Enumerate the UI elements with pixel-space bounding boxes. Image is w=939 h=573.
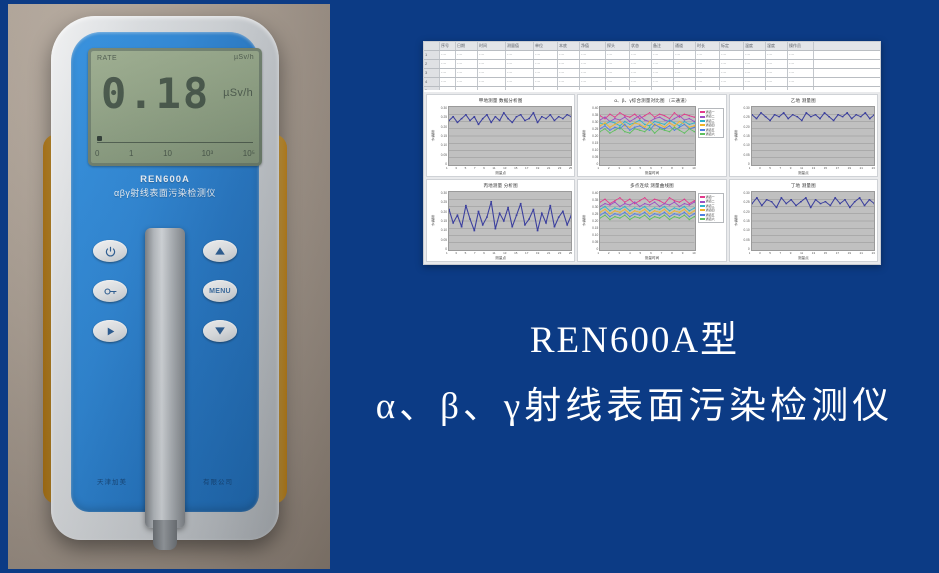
data-spreadsheet: 序号日期时间测量值单位本底净值探头状态备注通道时长标定温度湿度操作员1·····… xyxy=(424,42,880,90)
y-tick: 0.25 xyxy=(586,212,598,216)
table-cell: ···· xyxy=(478,78,506,86)
table-cell: ···· xyxy=(788,69,814,77)
column-header: 日期 xyxy=(456,42,478,50)
table-cell: ···· xyxy=(696,78,720,86)
table-cell: ···· xyxy=(580,60,606,68)
y-tick: 0.25 xyxy=(435,115,447,119)
table-cell: ···· xyxy=(478,87,506,90)
y-axis-label: 计数率 xyxy=(429,191,435,251)
y-axis-label: 计数率 xyxy=(429,106,435,166)
plot-area: 计数率0.300.250.200.150.100.050 xyxy=(429,106,572,166)
table-cell: ···· xyxy=(744,87,766,90)
table-cell: ···· xyxy=(674,60,696,68)
table-cell: ···· xyxy=(744,69,766,77)
legend-swatch xyxy=(700,129,705,131)
table-cell: ···· xyxy=(534,87,558,90)
table-cell: ···· xyxy=(720,87,744,90)
device-footer-text: 天津加美 有限公司 xyxy=(71,476,259,486)
column-header: 单位 xyxy=(534,42,558,50)
legend-swatch xyxy=(700,120,705,122)
device-footer-right: 有限公司 xyxy=(203,476,233,486)
lcd-unit: µSv/h xyxy=(223,87,253,99)
y-tick: 0.40 xyxy=(586,191,598,195)
chart-title: α、β、γ综合测量对比图 （三通道） xyxy=(578,98,725,104)
table-cell: ···· xyxy=(456,78,478,86)
row-index-cell xyxy=(424,42,440,50)
table-cell: ···· xyxy=(766,60,788,68)
menu-button[interactable]: MENU xyxy=(203,280,237,302)
table-cell: ···· xyxy=(720,60,744,68)
y-axis-label: 计数率 xyxy=(732,191,738,251)
lcd-scale-tick: 1 xyxy=(129,149,133,161)
y-tick: 0.30 xyxy=(435,191,447,195)
y-axis-ticks: 0.300.250.200.150.100.050 xyxy=(738,106,751,166)
y-tick: 0.30 xyxy=(586,205,598,209)
down-button[interactable] xyxy=(203,320,237,342)
table-cell: ···· xyxy=(440,87,456,90)
table-cell: ···· xyxy=(652,87,674,90)
y-tick: 0.25 xyxy=(435,200,447,204)
plot-canvas xyxy=(448,106,572,166)
play-button[interactable] xyxy=(93,320,127,342)
table-cell: ···· xyxy=(478,69,506,77)
triangle-up-icon xyxy=(214,246,226,256)
table-cell: ···· xyxy=(674,51,696,59)
device-branding: REN600A αβγ射线表面污染检测仪 xyxy=(71,174,259,199)
chart-title: 丁地 测量图 xyxy=(730,183,877,189)
chart-title: 乙地 测量图 xyxy=(730,98,877,104)
table-cell: ···· xyxy=(766,51,788,59)
table-cell: ···· xyxy=(696,87,720,90)
table-cell: ···· xyxy=(478,60,506,68)
lcd-bargraph xyxy=(97,135,253,143)
y-tick: 0.20 xyxy=(738,125,750,129)
table-cell: ···· xyxy=(506,51,534,59)
y-axis-ticks: 0.300.250.200.150.100.050 xyxy=(435,106,448,166)
triangle-down-icon xyxy=(214,326,226,336)
table-cell: ···· xyxy=(630,78,652,86)
legend-swatch xyxy=(700,124,705,126)
plot-area: 计数率0.300.250.200.150.100.050 xyxy=(429,191,572,251)
product-title-line1: REN600A型 xyxy=(330,318,939,364)
y-axis-ticks: 0.400.350.300.250.200.150.100.050 xyxy=(586,106,599,166)
table-cell: ···· xyxy=(440,51,456,59)
chart-title: 多点连续 测量曲线图 xyxy=(578,183,725,189)
y-tick: 0.10 xyxy=(435,143,447,147)
up-button[interactable] xyxy=(203,240,237,262)
table-cell: ···· xyxy=(766,69,788,77)
chart-panel[interactable]: α、β、γ综合测量对比图 （三通道）计数率0.400.350.300.250.2… xyxy=(577,94,726,177)
lcd-bezel: RATE µSv/h 0.18 µSv/h 011010³10⁵ xyxy=(88,48,262,166)
y-tick: 0.20 xyxy=(435,125,447,129)
power-icon xyxy=(105,246,116,257)
table-row[interactable]: 4·······································… xyxy=(424,78,880,87)
lcd-scale-tick: 10 xyxy=(163,149,172,161)
slide-root: RATE µSv/h 0.18 µSv/h 011010³10⁵ REN600A… xyxy=(0,0,939,573)
table-cell: ···· xyxy=(456,51,478,59)
table-cell: ···· xyxy=(478,51,506,59)
table-cell: ···· xyxy=(606,78,630,86)
table-cell: ···· xyxy=(506,60,534,68)
table-cell: ···· xyxy=(606,60,630,68)
table-cell: ···· xyxy=(580,87,606,90)
y-tick: 0.30 xyxy=(738,106,750,110)
lcd-status-right: µSv/h xyxy=(234,54,254,61)
table-cell: ···· xyxy=(580,78,606,86)
table-cell: ···· xyxy=(720,69,744,77)
y-tick: 0.35 xyxy=(586,198,598,202)
title-block: REN600A型 α、β、γ射线表面污染检测仪 xyxy=(330,318,939,434)
key-icon xyxy=(104,286,117,297)
y-tick: 0.25 xyxy=(738,200,750,204)
chart-legend: 通道一通道二通道三通道四通道五通道六 xyxy=(698,193,724,223)
spreadsheet-header-row[interactable]: 序号日期时间测量值单位本底净值探头状态备注通道时长标定温度湿度操作员 xyxy=(424,42,880,51)
column-header: 温度 xyxy=(744,42,766,50)
y-tick: 0.30 xyxy=(738,191,750,195)
chart-panel[interactable]: 多点连续 测量曲线图计数率0.400.350.300.250.200.150.1… xyxy=(577,179,726,262)
product-photo: RATE µSv/h 0.18 µSv/h 011010³10⁵ REN600A… xyxy=(8,4,330,569)
column-header: 序号 xyxy=(440,42,456,50)
column-header: 状态 xyxy=(630,42,652,50)
table-cell: ···· xyxy=(696,69,720,77)
y-tick: 0.15 xyxy=(586,226,598,230)
table-cell: ···· xyxy=(606,51,630,59)
row-index-cell: 3 xyxy=(424,69,440,77)
plot-area: 计数率0.300.250.200.150.100.050 xyxy=(732,106,875,166)
x-axis-label: 测量点 xyxy=(730,256,877,261)
y-axis-label: 计数率 xyxy=(580,191,586,251)
y-tick: 0.10 xyxy=(738,228,750,232)
x-axis-label: 测量点 xyxy=(730,171,877,176)
legend-swatch xyxy=(700,116,705,118)
table-cell: ···· xyxy=(630,51,652,59)
key-button[interactable] xyxy=(93,280,127,302)
plot-canvas xyxy=(448,191,572,251)
table-cell: ···· xyxy=(766,87,788,90)
software-screenshot-panel: 序号日期时间测量值单位本底净值探头状态备注通道时长标定温度湿度操作员1·····… xyxy=(423,41,881,265)
y-tick: 0.05 xyxy=(586,240,598,244)
table-cell: ···· xyxy=(788,78,814,86)
legend-swatch xyxy=(700,214,705,216)
row-index-cell: 2 xyxy=(424,60,440,68)
legend-entry: 通道六 xyxy=(700,132,722,136)
legend-swatch xyxy=(700,196,705,198)
column-header: 湿度 xyxy=(766,42,788,50)
y-tick: 0.30 xyxy=(586,120,598,124)
plot-area: 计数率0.300.250.200.150.100.050 xyxy=(732,191,875,251)
column-header: 时间 xyxy=(478,42,506,50)
table-cell: ···· xyxy=(652,78,674,86)
table-cell: ···· xyxy=(456,60,478,68)
column-header: 通道 xyxy=(674,42,696,50)
table-cell: ···· xyxy=(674,78,696,86)
table-cell: ···· xyxy=(630,60,652,68)
device-model-label: REN600A xyxy=(71,174,259,185)
table-cell: ···· xyxy=(744,60,766,68)
y-tick: 0.25 xyxy=(738,115,750,119)
table-cell: ···· xyxy=(652,51,674,59)
row-index-cell: 4 xyxy=(424,78,440,86)
lcd-scale-tick: 0 xyxy=(95,149,99,161)
column-header: 标定 xyxy=(720,42,744,50)
lcd-scale-tick: 10⁵ xyxy=(243,149,255,161)
y-tick: 0.20 xyxy=(586,134,598,138)
legend-swatch xyxy=(700,111,705,113)
y-tick: 0.05 xyxy=(435,238,447,242)
table-cell: ···· xyxy=(506,87,534,90)
plot-canvas xyxy=(599,106,695,166)
legend-label: 通道六 xyxy=(706,132,715,136)
table-cell: ···· xyxy=(720,78,744,86)
table-row[interactable]: 2·······································… xyxy=(424,60,880,69)
table-cell: ···· xyxy=(606,69,630,77)
chart-legend: 通道一通道二通道三通道四通道五通道六 xyxy=(698,108,724,138)
y-axis-label: 计数率 xyxy=(580,106,586,166)
legend-swatch xyxy=(700,209,705,211)
y-tick: 0.05 xyxy=(738,238,750,242)
table-cell: ···· xyxy=(652,69,674,77)
table-cell: ···· xyxy=(534,51,558,59)
table-cell: ···· xyxy=(456,87,478,90)
table-cell: ···· xyxy=(674,69,696,77)
table-cell: ···· xyxy=(506,78,534,86)
y-tick: 0.05 xyxy=(586,155,598,159)
chart-panel[interactable]: 丁地 测量图计数率0.300.250.200.150.100.050135791… xyxy=(729,179,878,262)
y-tick: 0.20 xyxy=(586,219,598,223)
legend-swatch xyxy=(700,218,705,220)
menu-button-label: MENU xyxy=(209,288,231,295)
table-row[interactable]: 3·······································… xyxy=(424,69,880,78)
table-cell: ···· xyxy=(558,69,580,77)
device-footer-left: 天津加美 xyxy=(97,476,127,486)
lcd-scale-tick: 10³ xyxy=(202,149,214,161)
y-tick: 0.25 xyxy=(586,127,598,131)
power-button[interactable] xyxy=(93,240,127,262)
column-header: 备注 xyxy=(652,42,674,50)
y-tick: 0.15 xyxy=(586,141,598,145)
x-axis-label: 测量时间 xyxy=(578,171,725,176)
table-cell: ···· xyxy=(744,51,766,59)
chart-title: 丙地测量 分析图 xyxy=(427,183,574,189)
column-header: 净值 xyxy=(580,42,606,50)
legend-entry: 通道六 xyxy=(700,217,722,221)
table-cell: ···· xyxy=(720,51,744,59)
table-cell: ···· xyxy=(534,69,558,77)
product-title-line2: α、β、γ射线表面污染检测仪 xyxy=(330,380,939,434)
y-axis-ticks: 0.300.250.200.150.100.050 xyxy=(435,191,448,251)
y-tick: 0.05 xyxy=(435,153,447,157)
legend-swatch xyxy=(700,201,705,203)
column-header: 时长 xyxy=(696,42,720,50)
column-header: 本底 xyxy=(558,42,580,50)
lcd-status-left: RATE xyxy=(97,55,117,62)
device-shell: RATE µSv/h 0.18 µSv/h 011010³10⁵ REN600A… xyxy=(51,16,279,540)
table-cell: ···· xyxy=(674,87,696,90)
y-axis-ticks: 0.300.250.200.150.100.050 xyxy=(738,191,751,251)
lcd-value: 0.18 xyxy=(101,73,210,115)
y-tick: 0.30 xyxy=(435,106,447,110)
column-header: 测量值 xyxy=(506,42,534,50)
y-tick: 0.10 xyxy=(738,143,750,147)
row-index-cell: 1 xyxy=(424,51,440,59)
row-index-cell: 5 xyxy=(424,87,440,90)
x-axis-label: 测量时间 xyxy=(578,256,725,261)
chart-panel[interactable]: 甲地测量 数据分析图计数率0.300.250.200.150.100.05013… xyxy=(426,94,575,177)
x-axis-label: 测量点 xyxy=(427,171,574,176)
y-tick: 0.05 xyxy=(738,153,750,157)
plot-canvas xyxy=(751,106,875,166)
y-tick: 0.20 xyxy=(738,210,750,214)
plot-area: 计数率0.400.350.300.250.200.150.100.050 xyxy=(580,191,695,251)
table-cell: ···· xyxy=(558,78,580,86)
x-axis-label: 测量点 xyxy=(427,256,574,261)
y-tick: 0.15 xyxy=(435,134,447,138)
table-cell: ···· xyxy=(766,78,788,86)
legend-label: 通道六 xyxy=(706,217,715,221)
device-chinese-label: αβγ射线表面污染检测仪 xyxy=(71,186,259,199)
plot-canvas xyxy=(751,191,875,251)
table-cell: ···· xyxy=(506,69,534,77)
table-row[interactable]: 1·······································… xyxy=(424,51,880,60)
plot-canvas xyxy=(599,191,695,251)
chart-panel[interactable]: 丙地测量 分析图计数率0.300.250.200.150.100.0501357… xyxy=(426,179,575,262)
table-cell: ···· xyxy=(788,51,814,59)
y-tick: 0.10 xyxy=(586,148,598,152)
y-tick: 0.35 xyxy=(586,113,598,117)
table-cell: ···· xyxy=(744,78,766,86)
device-body: RATE µSv/h 0.18 µSv/h 011010³10⁵ REN600A… xyxy=(41,16,289,540)
lcd-scale: 011010³10⁵ xyxy=(95,149,255,161)
y-tick: 0.20 xyxy=(435,210,447,214)
y-tick: 0.15 xyxy=(738,134,750,138)
table-cell: ···· xyxy=(456,69,478,77)
y-tick: 0.40 xyxy=(586,106,598,110)
table-cell: ···· xyxy=(696,51,720,59)
table-cell: ···· xyxy=(580,51,606,59)
column-header: 操作员 xyxy=(788,42,814,50)
table-cell: ···· xyxy=(440,78,456,86)
chart-panel[interactable]: 乙地 测量图计数率0.300.250.200.150.100.050135791… xyxy=(729,94,878,177)
table-cell: ···· xyxy=(788,60,814,68)
column-header: 探头 xyxy=(606,42,630,50)
y-tick: 0.10 xyxy=(435,228,447,232)
table-cell: ···· xyxy=(652,60,674,68)
table-cell: ···· xyxy=(630,69,652,77)
y-tick: 0.10 xyxy=(586,233,598,237)
table-cell: ···· xyxy=(630,87,652,90)
table-cell: ···· xyxy=(558,60,580,68)
table-cell: ···· xyxy=(788,87,814,90)
legend-swatch xyxy=(700,205,705,207)
table-row[interactable]: 5·······································… xyxy=(424,87,880,90)
device-front-face: RATE µSv/h 0.18 µSv/h 011010³10⁵ REN600A… xyxy=(71,32,259,512)
table-cell: ···· xyxy=(534,78,558,86)
y-axis-label: 计数率 xyxy=(732,106,738,166)
y-tick: 0.15 xyxy=(738,219,750,223)
table-cell: ···· xyxy=(580,69,606,77)
y-tick: 0.15 xyxy=(435,219,447,223)
legend-swatch xyxy=(700,133,705,135)
table-cell: ···· xyxy=(696,60,720,68)
table-cell: ···· xyxy=(558,51,580,59)
table-cell: ···· xyxy=(558,87,580,90)
plot-area: 计数率0.400.350.300.250.200.150.100.050 xyxy=(580,106,695,166)
play-icon xyxy=(105,326,116,337)
table-cell: ···· xyxy=(440,69,456,77)
table-cell: ···· xyxy=(440,60,456,68)
table-cell: ···· xyxy=(606,87,630,90)
chart-title: 甲地测量 数据分析图 xyxy=(427,98,574,104)
lcd-display: RATE µSv/h 0.18 µSv/h 011010³10⁵ xyxy=(91,51,259,163)
y-axis-ticks: 0.400.350.300.250.200.150.100.050 xyxy=(586,191,599,251)
chart-grid: 甲地测量 数据分析图计数率0.300.250.200.150.100.05013… xyxy=(424,92,880,264)
table-cell: ···· xyxy=(534,60,558,68)
